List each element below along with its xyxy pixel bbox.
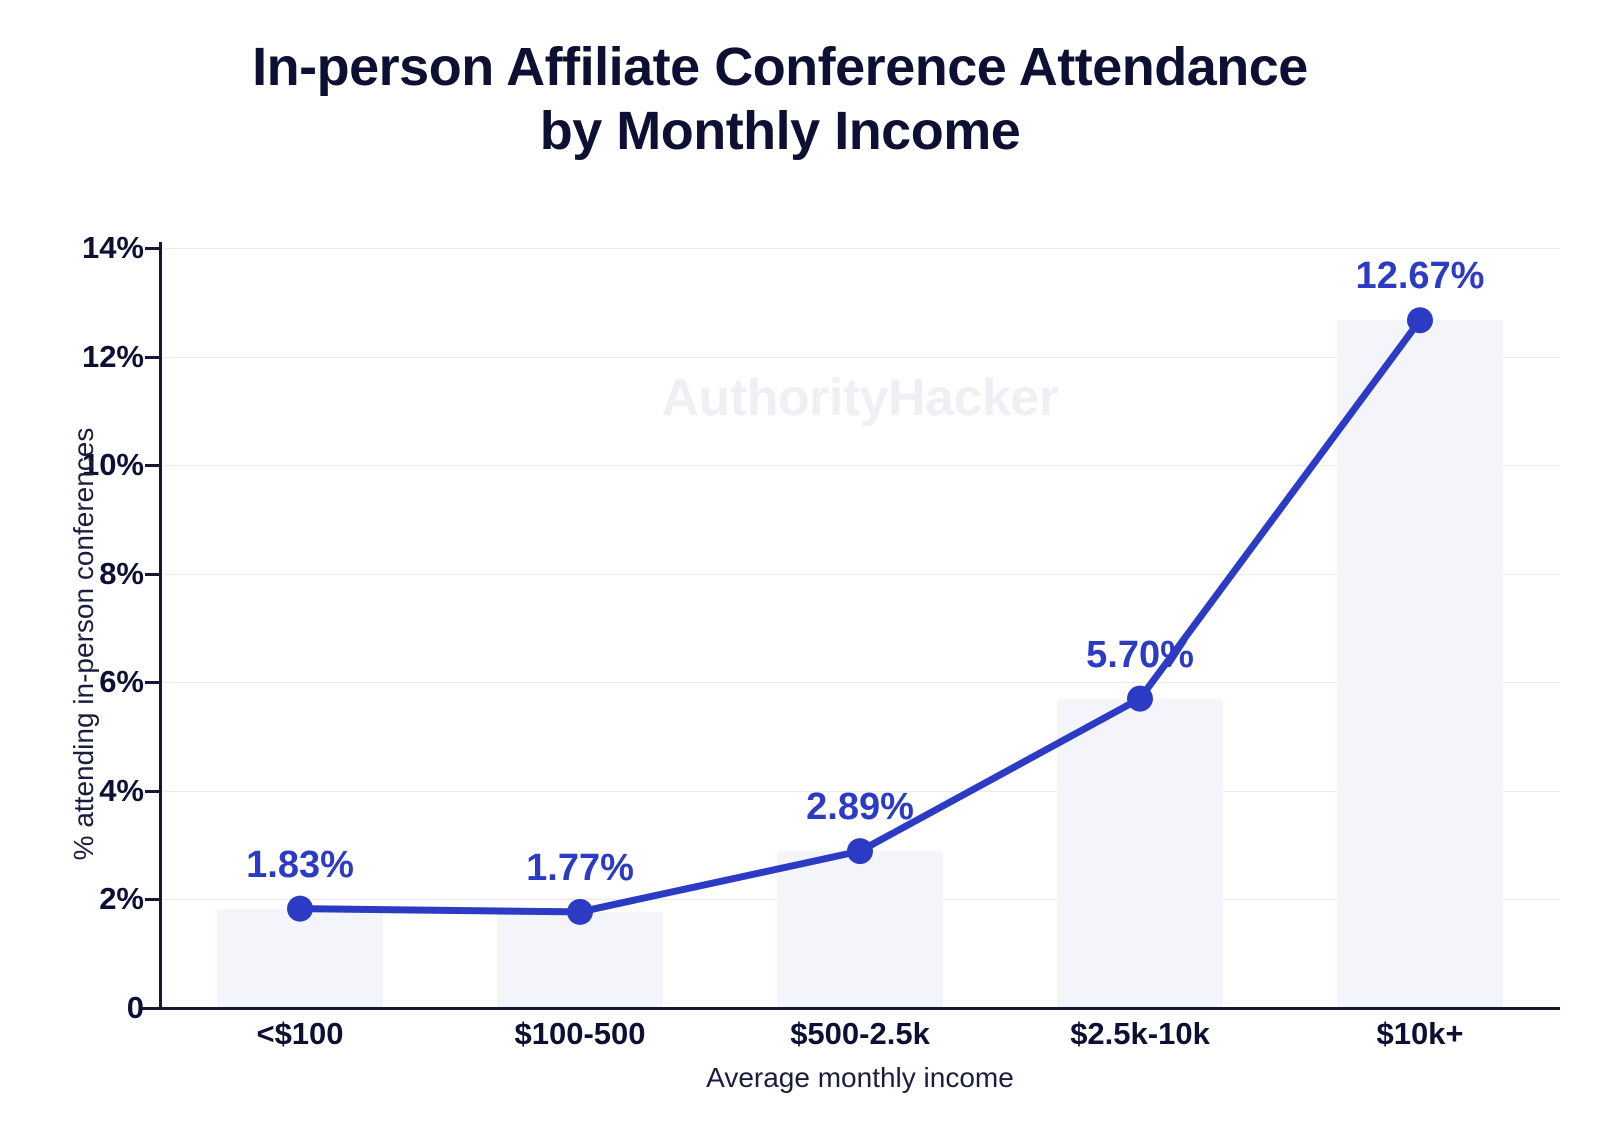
background-bar	[217, 909, 382, 1008]
y-axis-tick	[145, 681, 159, 684]
data-point-label: 1.77%	[526, 847, 634, 890]
chart-container: In-person Affiliate Conference Attendanc…	[0, 0, 1600, 1122]
y-axis-line	[159, 242, 162, 1010]
background-bar	[777, 851, 942, 1008]
x-axis-tick-label: <$100	[256, 1016, 343, 1052]
data-point-label: 1.83%	[246, 844, 354, 887]
chart-title: In-person Affiliate Conference Attendanc…	[0, 36, 1560, 163]
x-axis-line	[140, 1007, 1560, 1010]
x-axis-tick-label: $2.5k-10k	[1070, 1016, 1210, 1052]
gridline	[160, 248, 1560, 249]
x-axis-tick-label: $500-2.5k	[790, 1016, 930, 1052]
y-axis-tick	[145, 464, 159, 467]
y-axis-tick-label: 14%	[24, 230, 144, 266]
data-point-label: 2.89%	[806, 786, 914, 829]
plot-area	[160, 248, 1560, 1008]
y-axis-tick	[145, 790, 159, 793]
y-axis-tick	[145, 1007, 159, 1010]
y-axis-tick	[145, 247, 159, 250]
y-axis-title: % attending in-person conferences	[68, 264, 100, 1024]
data-point-label: 12.67%	[1356, 255, 1485, 298]
x-axis-tick-label: $10k+	[1376, 1016, 1463, 1052]
y-axis-tick	[145, 573, 159, 576]
y-axis-tick	[145, 898, 159, 901]
x-axis-tick-label: $100-500	[514, 1016, 645, 1052]
background-bar	[497, 912, 662, 1008]
y-axis-tick	[145, 356, 159, 359]
data-point-label: 5.70%	[1086, 634, 1194, 677]
background-bar	[1337, 320, 1502, 1008]
x-axis-title: Average monthly income	[160, 1062, 1560, 1094]
background-bar	[1057, 699, 1222, 1008]
